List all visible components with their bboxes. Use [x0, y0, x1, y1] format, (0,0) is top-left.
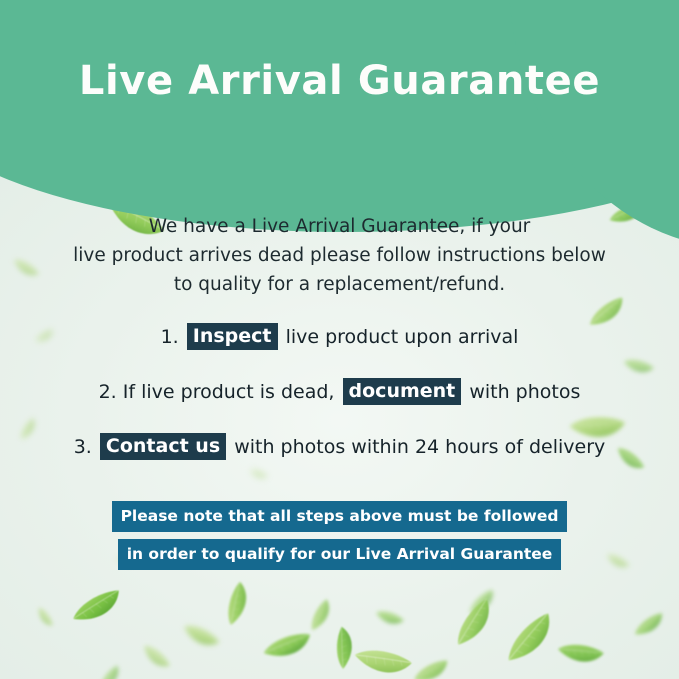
step-post-text-1: live product upon arrival	[286, 326, 519, 348]
step-post-text-3: with photos within 24 hours of delivery	[234, 436, 605, 458]
step-highlight-contact-us: Contact us	[100, 433, 226, 460]
intro-line-3: to quality for a replacement/refund.	[0, 270, 679, 299]
step-item-1: 1. Inspect live product upon arrival	[0, 322, 679, 352]
notice-row-1: Please note that all steps above must be…	[0, 501, 679, 532]
step-highlight-inspect: Inspect	[187, 323, 278, 350]
step-highlight-document: document	[343, 378, 462, 405]
step-number-2: 2.	[99, 381, 117, 403]
step-pre-text-2: If live product is dead,	[123, 381, 335, 403]
notice-row-2: in order to qualify for our Live Arrival…	[0, 539, 679, 570]
live-arrival-guarantee-poster: Live Arrival Guarantee We have a Live Ar…	[0, 0, 679, 679]
step-number-3: 3.	[74, 436, 92, 458]
step-post-text-2: with photos	[469, 381, 580, 403]
steps-list: 1. Inspect live product upon arrival 2. …	[0, 322, 679, 462]
intro-paragraph: We have a Live Arrival Guarantee, if you…	[0, 212, 679, 299]
page-title: Live Arrival Guarantee	[0, 58, 679, 104]
notice-line-1: Please note that all steps above must be…	[112, 501, 568, 532]
notice-block: Please note that all steps above must be…	[0, 501, 679, 570]
intro-line-1: We have a Live Arrival Guarantee, if you…	[0, 212, 679, 241]
step-item-3: 3. Contact us with photos within 24 hour…	[0, 432, 679, 462]
step-item-2: 2. If live product is dead, document wit…	[0, 377, 679, 407]
step-number-1: 1.	[161, 326, 179, 348]
intro-line-2: live product arrives dead please follow …	[0, 241, 679, 270]
notice-line-2: in order to qualify for our Live Arrival…	[118, 539, 562, 570]
